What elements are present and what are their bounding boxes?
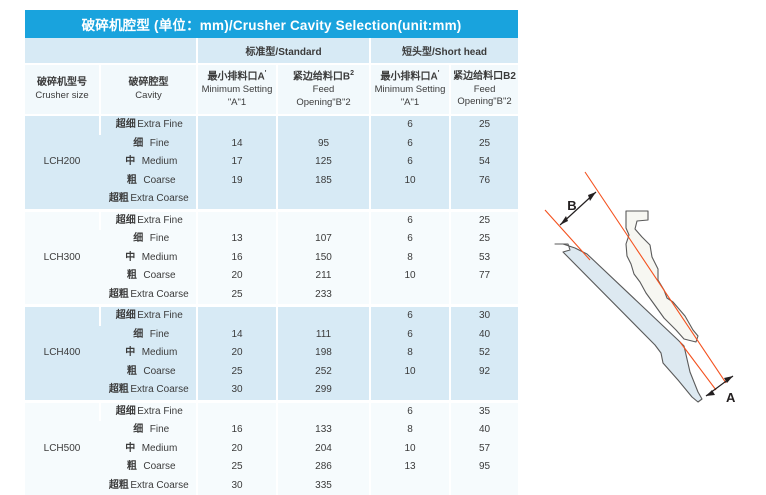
standard-min-setting-cell: 20 bbox=[197, 440, 277, 459]
header-column-cn-3: 紧边给料口B2 bbox=[280, 70, 367, 84]
standard-feed-opening-cell: 185 bbox=[277, 172, 370, 191]
shorthead-feed-opening-cell: 95 bbox=[450, 458, 518, 477]
header-column-en2-4: "A"1 bbox=[373, 97, 447, 109]
standard-feed-opening-cell: 204 bbox=[277, 440, 370, 459]
cavity-cell: 粗Coarse bbox=[100, 172, 197, 191]
page-root: 破碎机腔型 (单位：mm)/Crusher Cavity Selection(u… bbox=[0, 0, 766, 442]
header-column-0: 破碎机型号Crusher size bbox=[25, 64, 100, 115]
standard-min-setting-cell: 13 bbox=[197, 230, 277, 249]
cavity-en-label: Extra Coarse bbox=[130, 193, 188, 204]
standard-min-setting-cell: 25 bbox=[197, 458, 277, 477]
cavity-en-label: Medium bbox=[142, 347, 178, 358]
shorthead-feed-opening-cell: 52 bbox=[450, 344, 518, 363]
shorthead-feed-opening-cell: 25 bbox=[450, 115, 518, 135]
shorthead-feed-opening-cell: 53 bbox=[450, 249, 518, 268]
standard-feed-opening-cell: 125 bbox=[277, 153, 370, 172]
shorthead-min-setting-cell bbox=[370, 381, 450, 400]
cavity-cn-label: 细 bbox=[127, 425, 150, 435]
header-column-en2-2: "A"1 bbox=[200, 97, 274, 109]
shorthead-feed-opening-cell bbox=[450, 477, 518, 495]
header-column-cn-2: 最小排料口A' bbox=[200, 70, 274, 84]
cavity-cn-label: 超粗 bbox=[107, 385, 130, 395]
crusher-cavity-table-container: 破碎机腔型 (单位：mm)/Crusher Cavity Selection(u… bbox=[25, 10, 518, 495]
header-column-3: 紧边给料口B2FeedOpening"B"2 bbox=[277, 64, 370, 115]
shorthead-min-setting-cell: 8 bbox=[370, 421, 450, 440]
standard-min-setting-cell: 30 bbox=[197, 381, 277, 400]
cavity-en-label: Fine bbox=[150, 424, 169, 435]
standard-min-setting-cell: 14 bbox=[197, 326, 277, 345]
header-group-1: 标准型/Standard bbox=[197, 38, 370, 64]
header-group-2: 短头型/Short head bbox=[370, 38, 518, 64]
dimension-arrow-b bbox=[560, 192, 596, 225]
header-column-en-1: Cavity bbox=[135, 90, 161, 101]
shorthead-min-setting-cell: 10 bbox=[370, 172, 450, 191]
cavity-en-label: Fine bbox=[150, 233, 169, 244]
cavity-cell: 超细Extra Fine bbox=[100, 212, 197, 231]
shorthead-feed-opening-cell: 77 bbox=[450, 267, 518, 286]
cavity-cell: 中Medium bbox=[100, 440, 197, 459]
cavity-en-label: Extra Coarse bbox=[130, 289, 188, 300]
cavity-cn-label: 中 bbox=[119, 157, 142, 167]
cavity-en-label: Extra Coarse bbox=[130, 384, 188, 395]
cavity-cn-label: 中 bbox=[119, 253, 142, 263]
cavity-cn-label: 超细 bbox=[114, 120, 137, 130]
header-column-en1-4: Minimum Setting bbox=[373, 84, 447, 96]
cavity-cn-label: 细 bbox=[127, 139, 150, 149]
cavity-en-label: Medium bbox=[142, 252, 178, 263]
cavity-en-label: Medium bbox=[142, 156, 178, 167]
header-column-en2-3: Opening"B"2 bbox=[280, 97, 367, 109]
cavity-cn-label: 超细 bbox=[114, 311, 137, 321]
header-column-en-0: Crusher size bbox=[35, 90, 88, 101]
shorthead-feed-opening-cell bbox=[450, 286, 518, 305]
standard-min-setting-cell: 16 bbox=[197, 249, 277, 268]
standard-feed-opening-cell bbox=[277, 190, 370, 209]
cavity-cn-label: 粗 bbox=[120, 176, 143, 186]
shorthead-feed-opening-cell: 30 bbox=[450, 307, 518, 326]
shorthead-min-setting-cell bbox=[370, 286, 450, 305]
crusher-size-cell: LCH500 bbox=[25, 403, 100, 495]
cavity-cn-label: 粗 bbox=[120, 462, 143, 472]
cavity-cell: 超粗Extra Coarse bbox=[100, 286, 197, 305]
shorthead-feed-opening-cell: 40 bbox=[450, 421, 518, 440]
crusher-size-cell: LCH300 bbox=[25, 212, 100, 305]
crusher-cavity-table: 破碎机腔型 (单位：mm)/Crusher Cavity Selection(u… bbox=[25, 10, 518, 495]
shorthead-feed-opening-cell bbox=[450, 190, 518, 209]
cavity-en-label: Coarse bbox=[143, 461, 175, 472]
standard-feed-opening-cell: 286 bbox=[277, 458, 370, 477]
crusher-cavity-diagram: B A bbox=[530, 140, 766, 442]
standard-feed-opening-cell: 107 bbox=[277, 230, 370, 249]
cavity-cn-label: 超细 bbox=[114, 407, 137, 417]
table-row: LCH200超细Extra Fine625 bbox=[25, 115, 518, 135]
cavity-cell: 中Medium bbox=[100, 153, 197, 172]
standard-min-setting-cell: 30 bbox=[197, 477, 277, 495]
shorthead-min-setting-cell: 10 bbox=[370, 363, 450, 382]
standard-feed-opening-cell: 299 bbox=[277, 381, 370, 400]
shorthead-min-setting-cell bbox=[370, 477, 450, 495]
shorthead-min-setting-cell: 10 bbox=[370, 440, 450, 459]
cavity-en-label: Coarse bbox=[143, 270, 175, 281]
table-title: 破碎机腔型 (单位：mm)/Crusher Cavity Selection(u… bbox=[25, 10, 518, 38]
shorthead-min-setting-cell: 6 bbox=[370, 135, 450, 154]
standard-feed-opening-cell: 252 bbox=[277, 363, 370, 382]
standard-feed-opening-cell: 233 bbox=[277, 286, 370, 305]
shorthead-min-setting-cell: 6 bbox=[370, 403, 450, 422]
cavity-cell: 中Medium bbox=[100, 344, 197, 363]
standard-feed-opening-cell: 111 bbox=[277, 326, 370, 345]
standard-feed-opening-cell bbox=[277, 115, 370, 135]
shorthead-feed-opening-cell: 54 bbox=[450, 153, 518, 172]
shorthead-min-setting-cell: 8 bbox=[370, 344, 450, 363]
shorthead-min-setting-cell: 6 bbox=[370, 153, 450, 172]
shorthead-feed-opening-cell: 76 bbox=[450, 172, 518, 191]
standard-feed-opening-cell: 150 bbox=[277, 249, 370, 268]
cavity-cn-label: 超粗 bbox=[107, 194, 130, 204]
shorthead-feed-opening-cell: 25 bbox=[450, 230, 518, 249]
crusher-size-cell: LCH400 bbox=[25, 307, 100, 400]
cavity-cell: 粗Coarse bbox=[100, 267, 197, 286]
cavity-en-label: Medium bbox=[142, 443, 178, 454]
shorthead-feed-opening-cell: 35 bbox=[450, 403, 518, 422]
shorthead-feed-opening-cell bbox=[450, 381, 518, 400]
header-column-cn-1: 破碎腔型 bbox=[103, 77, 194, 90]
cavity-cell: 中Medium bbox=[100, 249, 197, 268]
header-column-en1-5: Feed bbox=[453, 84, 516, 96]
cavity-cell: 超细Extra Fine bbox=[100, 403, 197, 422]
crusher-size-cell: LCH200 bbox=[25, 115, 100, 209]
cavity-cn-label: 细 bbox=[127, 330, 150, 340]
cavity-cell: 超细Extra Fine bbox=[100, 115, 197, 135]
header-column-cn-4: 最小排料口A' bbox=[373, 70, 447, 84]
cavity-cell: 超细Extra Fine bbox=[100, 307, 197, 326]
standard-min-setting-cell: 16 bbox=[197, 421, 277, 440]
header-column-en1-2: Minimum Setting bbox=[200, 84, 274, 96]
header-column-cn-5: 紧边给料口B2 bbox=[453, 71, 516, 84]
standard-feed-opening-cell: 211 bbox=[277, 267, 370, 286]
standard-feed-opening-cell: 133 bbox=[277, 421, 370, 440]
cavity-cn-label: 细 bbox=[127, 234, 150, 244]
standard-feed-opening-cell bbox=[277, 403, 370, 422]
shorthead-min-setting-cell bbox=[370, 190, 450, 209]
cavity-en-label: Extra Fine bbox=[137, 215, 183, 226]
table-row: LCH500超细Extra Fine635 bbox=[25, 403, 518, 422]
cavity-cell: 超粗Extra Coarse bbox=[100, 190, 197, 209]
dimension-label-b: B bbox=[567, 198, 576, 213]
header-column-2: 最小排料口A'Minimum Setting"A"1 bbox=[197, 64, 277, 115]
cavity-cn-label: 超粗 bbox=[107, 481, 130, 491]
standard-min-setting-cell: 25 bbox=[197, 363, 277, 382]
cavity-cell: 细Fine bbox=[100, 421, 197, 440]
header-column-row: 破碎机型号Crusher size破碎腔型Cavity最小排料口A'Minimu… bbox=[25, 64, 518, 115]
standard-feed-opening-cell bbox=[277, 212, 370, 231]
cavity-cell: 细Fine bbox=[100, 326, 197, 345]
shorthead-min-setting-cell: 10 bbox=[370, 267, 450, 286]
shorthead-feed-opening-cell: 25 bbox=[450, 212, 518, 231]
cavity-cn-label: 中 bbox=[119, 444, 142, 454]
shorthead-feed-opening-cell: 25 bbox=[450, 135, 518, 154]
cavity-en-label: Fine bbox=[150, 138, 169, 149]
shorthead-min-setting-cell: 6 bbox=[370, 115, 450, 135]
standard-min-setting-cell: 19 bbox=[197, 172, 277, 191]
shorthead-min-setting-cell: 6 bbox=[370, 212, 450, 231]
header-column-en1-3: Feed bbox=[280, 84, 367, 96]
cavity-en-label: Extra Fine bbox=[137, 406, 183, 417]
cavity-cell: 超粗Extra Coarse bbox=[100, 381, 197, 400]
standard-feed-opening-cell: 95 bbox=[277, 135, 370, 154]
shorthead-min-setting-cell: 13 bbox=[370, 458, 450, 477]
standard-min-setting-cell: 14 bbox=[197, 135, 277, 154]
shorthead-min-setting-cell: 6 bbox=[370, 307, 450, 326]
cavity-cn-label: 粗 bbox=[120, 271, 143, 281]
cavity-cell: 细Fine bbox=[100, 230, 197, 249]
header-column-1: 破碎腔型Cavity bbox=[100, 64, 197, 115]
standard-min-setting-cell bbox=[197, 190, 277, 209]
standard-feed-opening-cell: 335 bbox=[277, 477, 370, 495]
header-column-cn-0: 破碎机型号 bbox=[27, 77, 97, 90]
standard-min-setting-cell bbox=[197, 212, 277, 231]
shorthead-feed-opening-cell: 92 bbox=[450, 363, 518, 382]
standard-min-setting-cell: 25 bbox=[197, 286, 277, 305]
cavity-cell: 超粗Extra Coarse bbox=[100, 477, 197, 495]
cavity-cell: 粗Coarse bbox=[100, 363, 197, 382]
dimension-label-a: A bbox=[726, 390, 736, 405]
cavity-cell: 细Fine bbox=[100, 135, 197, 154]
standard-feed-opening-cell bbox=[277, 307, 370, 326]
standard-min-setting-cell: 20 bbox=[197, 344, 277, 363]
shorthead-feed-opening-cell: 40 bbox=[450, 326, 518, 345]
standard-min-setting-cell: 17 bbox=[197, 153, 277, 172]
cavity-en-label: Extra Coarse bbox=[130, 480, 188, 491]
cavity-cn-label: 超细 bbox=[114, 216, 137, 226]
shorthead-feed-opening-cell: 57 bbox=[450, 440, 518, 459]
standard-min-setting-cell: 20 bbox=[197, 267, 277, 286]
header-column-5: 紧边给料口B2FeedOpening"B"2 bbox=[450, 64, 518, 115]
standard-min-setting-cell bbox=[197, 403, 277, 422]
header-column-en2-5: Opening"B"2 bbox=[453, 96, 516, 108]
cavity-cell: 粗Coarse bbox=[100, 458, 197, 477]
cavity-cn-label: 粗 bbox=[120, 367, 143, 377]
header-group-0 bbox=[25, 38, 197, 64]
header-group-row: 标准型/Standard短头型/Short head bbox=[25, 38, 518, 64]
standard-min-setting-cell bbox=[197, 307, 277, 326]
header-column-4: 最小排料口A'Minimum Setting"A"1 bbox=[370, 64, 450, 115]
shorthead-min-setting-cell: 8 bbox=[370, 249, 450, 268]
shorthead-min-setting-cell: 6 bbox=[370, 230, 450, 249]
standard-feed-opening-cell: 198 bbox=[277, 344, 370, 363]
table-title-row: 破碎机腔型 (单位：mm)/Crusher Cavity Selection(u… bbox=[25, 10, 518, 38]
cavity-en-label: Coarse bbox=[143, 366, 175, 377]
table-row: LCH300超细Extra Fine625 bbox=[25, 212, 518, 231]
cavity-en-label: Extra Fine bbox=[137, 310, 183, 321]
table-row: LCH400超细Extra Fine630 bbox=[25, 307, 518, 326]
cavity-cn-label: 超粗 bbox=[107, 290, 130, 300]
shorthead-min-setting-cell: 6 bbox=[370, 326, 450, 345]
cavity-en-label: Fine bbox=[150, 329, 169, 340]
standard-min-setting-cell bbox=[197, 115, 277, 135]
cavity-cn-label: 中 bbox=[119, 348, 142, 358]
cavity-en-label: Coarse bbox=[143, 175, 175, 186]
cavity-en-label: Extra Fine bbox=[137, 119, 183, 130]
